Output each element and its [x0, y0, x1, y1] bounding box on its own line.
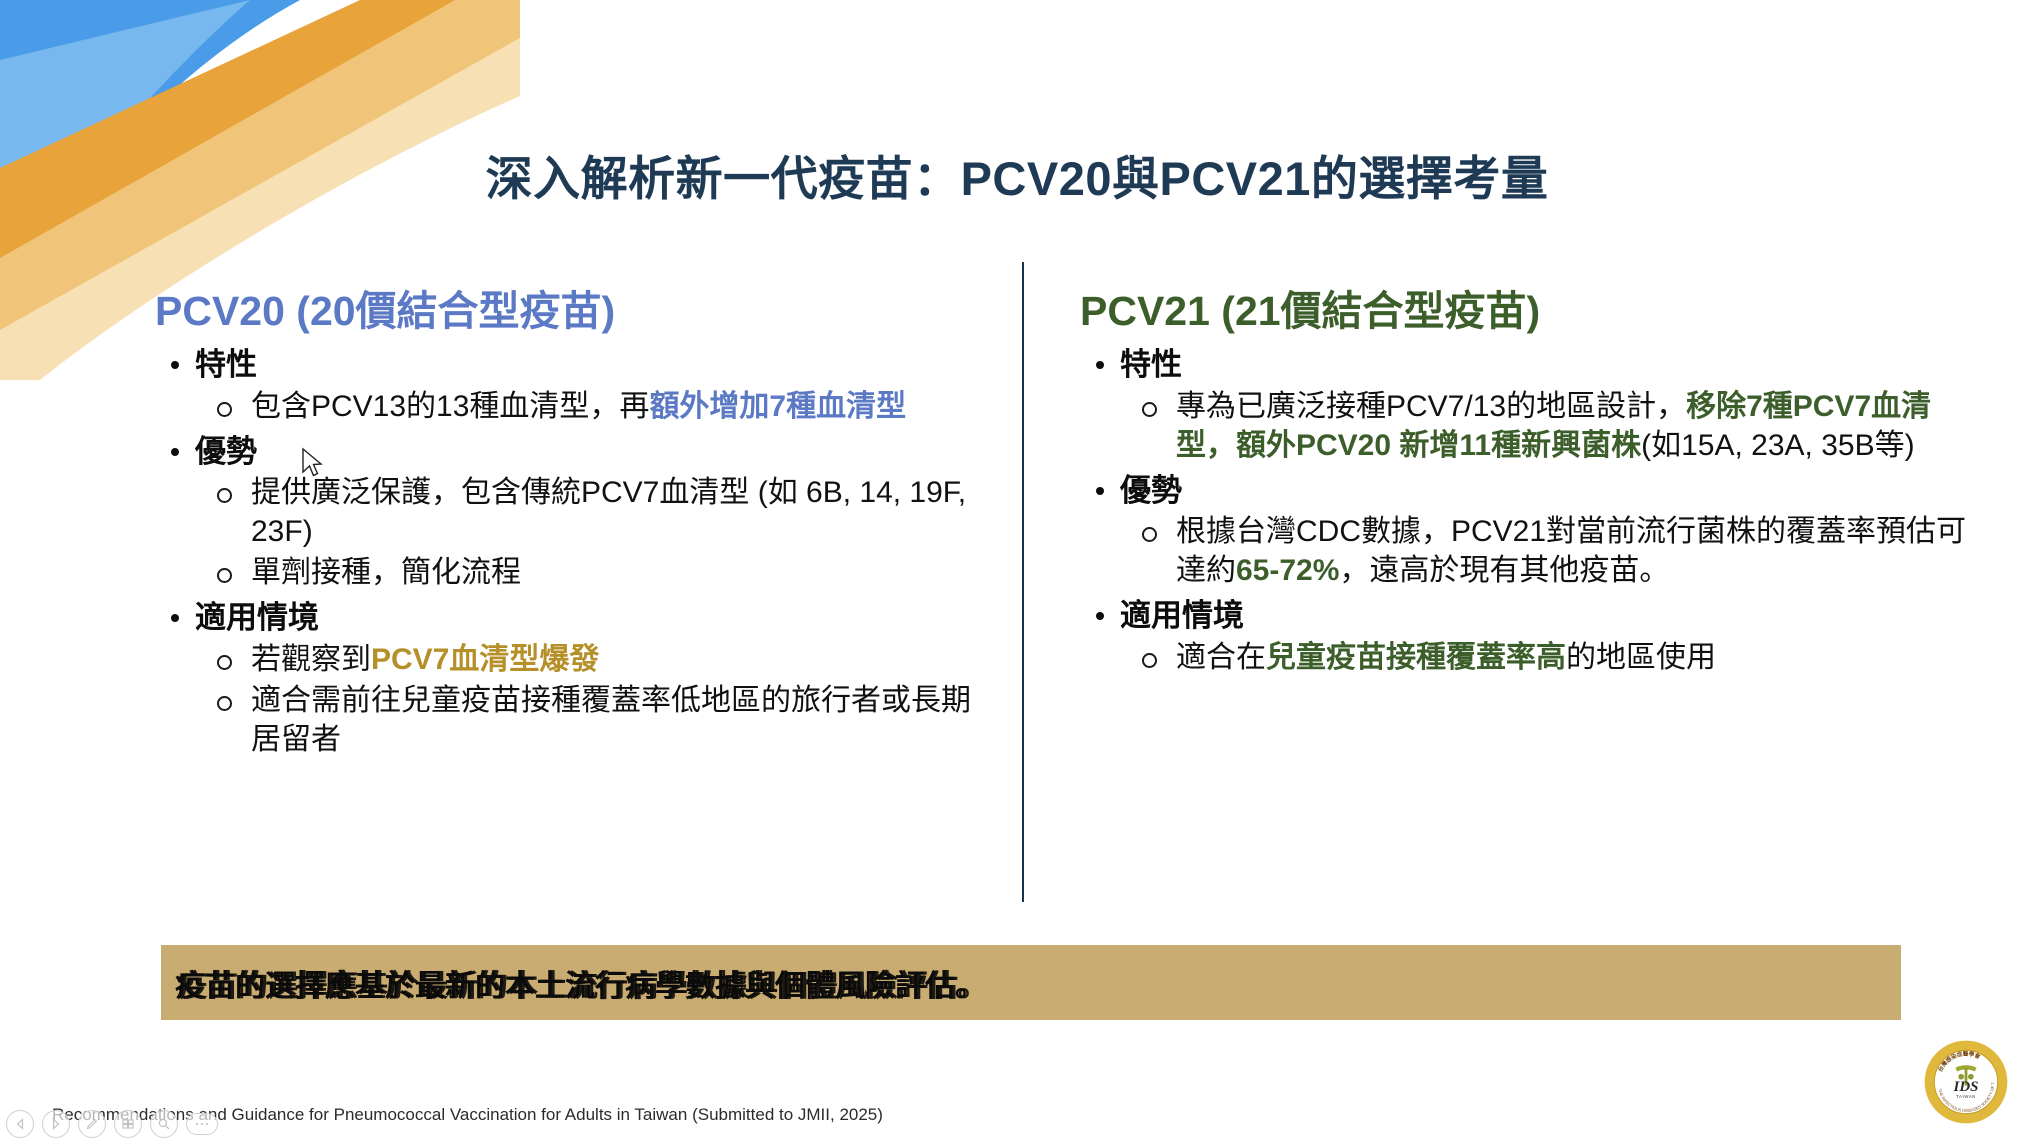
- text-run: 單劑接種，簡化流程: [251, 556, 521, 589]
- more-options-icon[interactable]: [186, 1113, 218, 1135]
- text-run-highlight: PCV7血清型爆發: [371, 643, 599, 676]
- text-run-highlight: 額外增加7種血清型: [649, 390, 906, 423]
- text-run: 若觀察到: [251, 643, 371, 676]
- column-heading-pcv20: PCV20 (20價結合型疫苗): [155, 290, 995, 333]
- list-item: 專為已廣泛接種PCV7/13的地區設計，移除7種PCV7血清型，額外PCV20 …: [1080, 387, 1985, 465]
- text-run-highlight: 兒童疫苗接種覆蓋率高: [1266, 641, 1566, 674]
- text-run: 提供廣泛保護，包含傳統PCV7血清型 (如 6B, 14, 19F, 23F): [251, 476, 966, 548]
- logo-acronym: IDS: [1953, 1079, 1979, 1095]
- group-pcv20-characteristics: 特性 包含PCV13的13種血清型，再額外增加7種血清型: [155, 345, 995, 426]
- text-run: 的地區使用: [1566, 641, 1716, 674]
- text-run: ，遠高於現有其他疫苗。: [1339, 554, 1669, 587]
- group-pcv20-advantages: 優勢 提供廣泛保護，包含傳統PCV7血清型 (如 6B, 14, 19F, 23…: [155, 432, 995, 593]
- mouse-cursor: [300, 447, 326, 481]
- search-icon[interactable]: [150, 1110, 178, 1138]
- group-pcv21-indications: 適用情境 適合在兒童疫苗接種覆蓋率高的地區使用: [1080, 596, 1985, 677]
- column-pcv20: PCV20 (20價結合型疫苗) 特性 包含PCV13的13種血清型，再額外增加…: [155, 290, 995, 759]
- list-item: 提供廣泛保護，包含傳統PCV7血清型 (如 6B, 14, 19F, 23F): [155, 473, 995, 551]
- group-title: 適用情境: [155, 598, 995, 638]
- text-run: 適合在: [1176, 641, 1266, 674]
- text-run: 專為已廣泛接種PCV7/13的地區設計，: [1176, 390, 1686, 423]
- key-message-text: 疫苗的選擇應基於最新的本土流行病學數據與個體風險評估。: [175, 961, 985, 1005]
- column-divider: [1022, 262, 1024, 902]
- pen-annotate-icon[interactable]: [78, 1110, 106, 1138]
- text-run: (如15A, 23A, 35B等): [1641, 429, 1914, 462]
- column-heading-pcv21: PCV21 (21價結合型疫苗): [1080, 290, 1985, 333]
- slide-grid-icon[interactable]: [114, 1110, 142, 1138]
- presentation-toolbar[interactable]: [6, 1110, 218, 1138]
- group-title: 特性: [1080, 345, 1985, 385]
- list-item: 適合在兒童疫苗接種覆蓋率高的地區使用: [1080, 638, 1985, 677]
- column-pcv21: PCV21 (21價結合型疫苗) 特性 專為已廣泛接種PCV7/13的地區設計，…: [1080, 290, 1985, 677]
- list-item: 適合需前往兒童疫苗接種覆蓋率低地區的旅行者或長期居留者: [155, 681, 995, 759]
- slide-title: 深入解析新一代疫苗：PCV20與PCV21的選擇考量: [0, 140, 2034, 209]
- next-slide-icon[interactable]: [42, 1110, 70, 1138]
- group-title: 適用情境: [1080, 596, 1985, 636]
- previous-slide-icon[interactable]: [6, 1110, 34, 1138]
- list-item: 若觀察到PCV7血清型爆發: [155, 640, 995, 679]
- group-title: 優勢: [1080, 471, 1985, 511]
- group-title: 特性: [155, 345, 995, 385]
- group-pcv21-advantages: 優勢 根據台灣CDC數據，PCV21對當前流行菌株的覆蓋率預估可達約65-72%…: [1080, 471, 1985, 591]
- key-message-banner: 疫苗的選擇應基於最新的本土流行病學數據與個體風險評估。: [161, 945, 1901, 1020]
- logo-subtext: TAIWAN: [1956, 1094, 1976, 1099]
- ids-taiwan-logo: IDS TAIWAN 台灣感染症醫學會 THE INFECTIOUS DISEA…: [1922, 1038, 2010, 1126]
- list-item: 根據台灣CDC數據，PCV21對當前流行菌株的覆蓋率預估可達約65-72%，遠高…: [1080, 512, 1985, 590]
- list-item: 單劑接種，簡化流程: [155, 553, 995, 592]
- group-pcv21-characteristics: 特性 專為已廣泛接種PCV7/13的地區設計，移除7種PCV7血清型，額外PCV…: [1080, 345, 1985, 465]
- slide-canvas: 深入解析新一代疫苗：PCV20與PCV21的選擇考量 PCV20 (20價結合型…: [0, 0, 2034, 1144]
- group-title: 優勢: [155, 432, 995, 472]
- text-run: 包含PCV13的13種血清型，再: [251, 390, 649, 423]
- text-run: 適合需前往兒童疫苗接種覆蓋率低地區的旅行者或長期居留者: [251, 684, 971, 756]
- text-run-highlight: 65-72%: [1236, 554, 1339, 587]
- group-pcv20-indications: 適用情境 若觀察到PCV7血清型爆發 適合需前往兒童疫苗接種覆蓋率低地區的旅行者…: [155, 598, 995, 759]
- list-item: 包含PCV13的13種血清型，再額外增加7種血清型: [155, 387, 995, 426]
